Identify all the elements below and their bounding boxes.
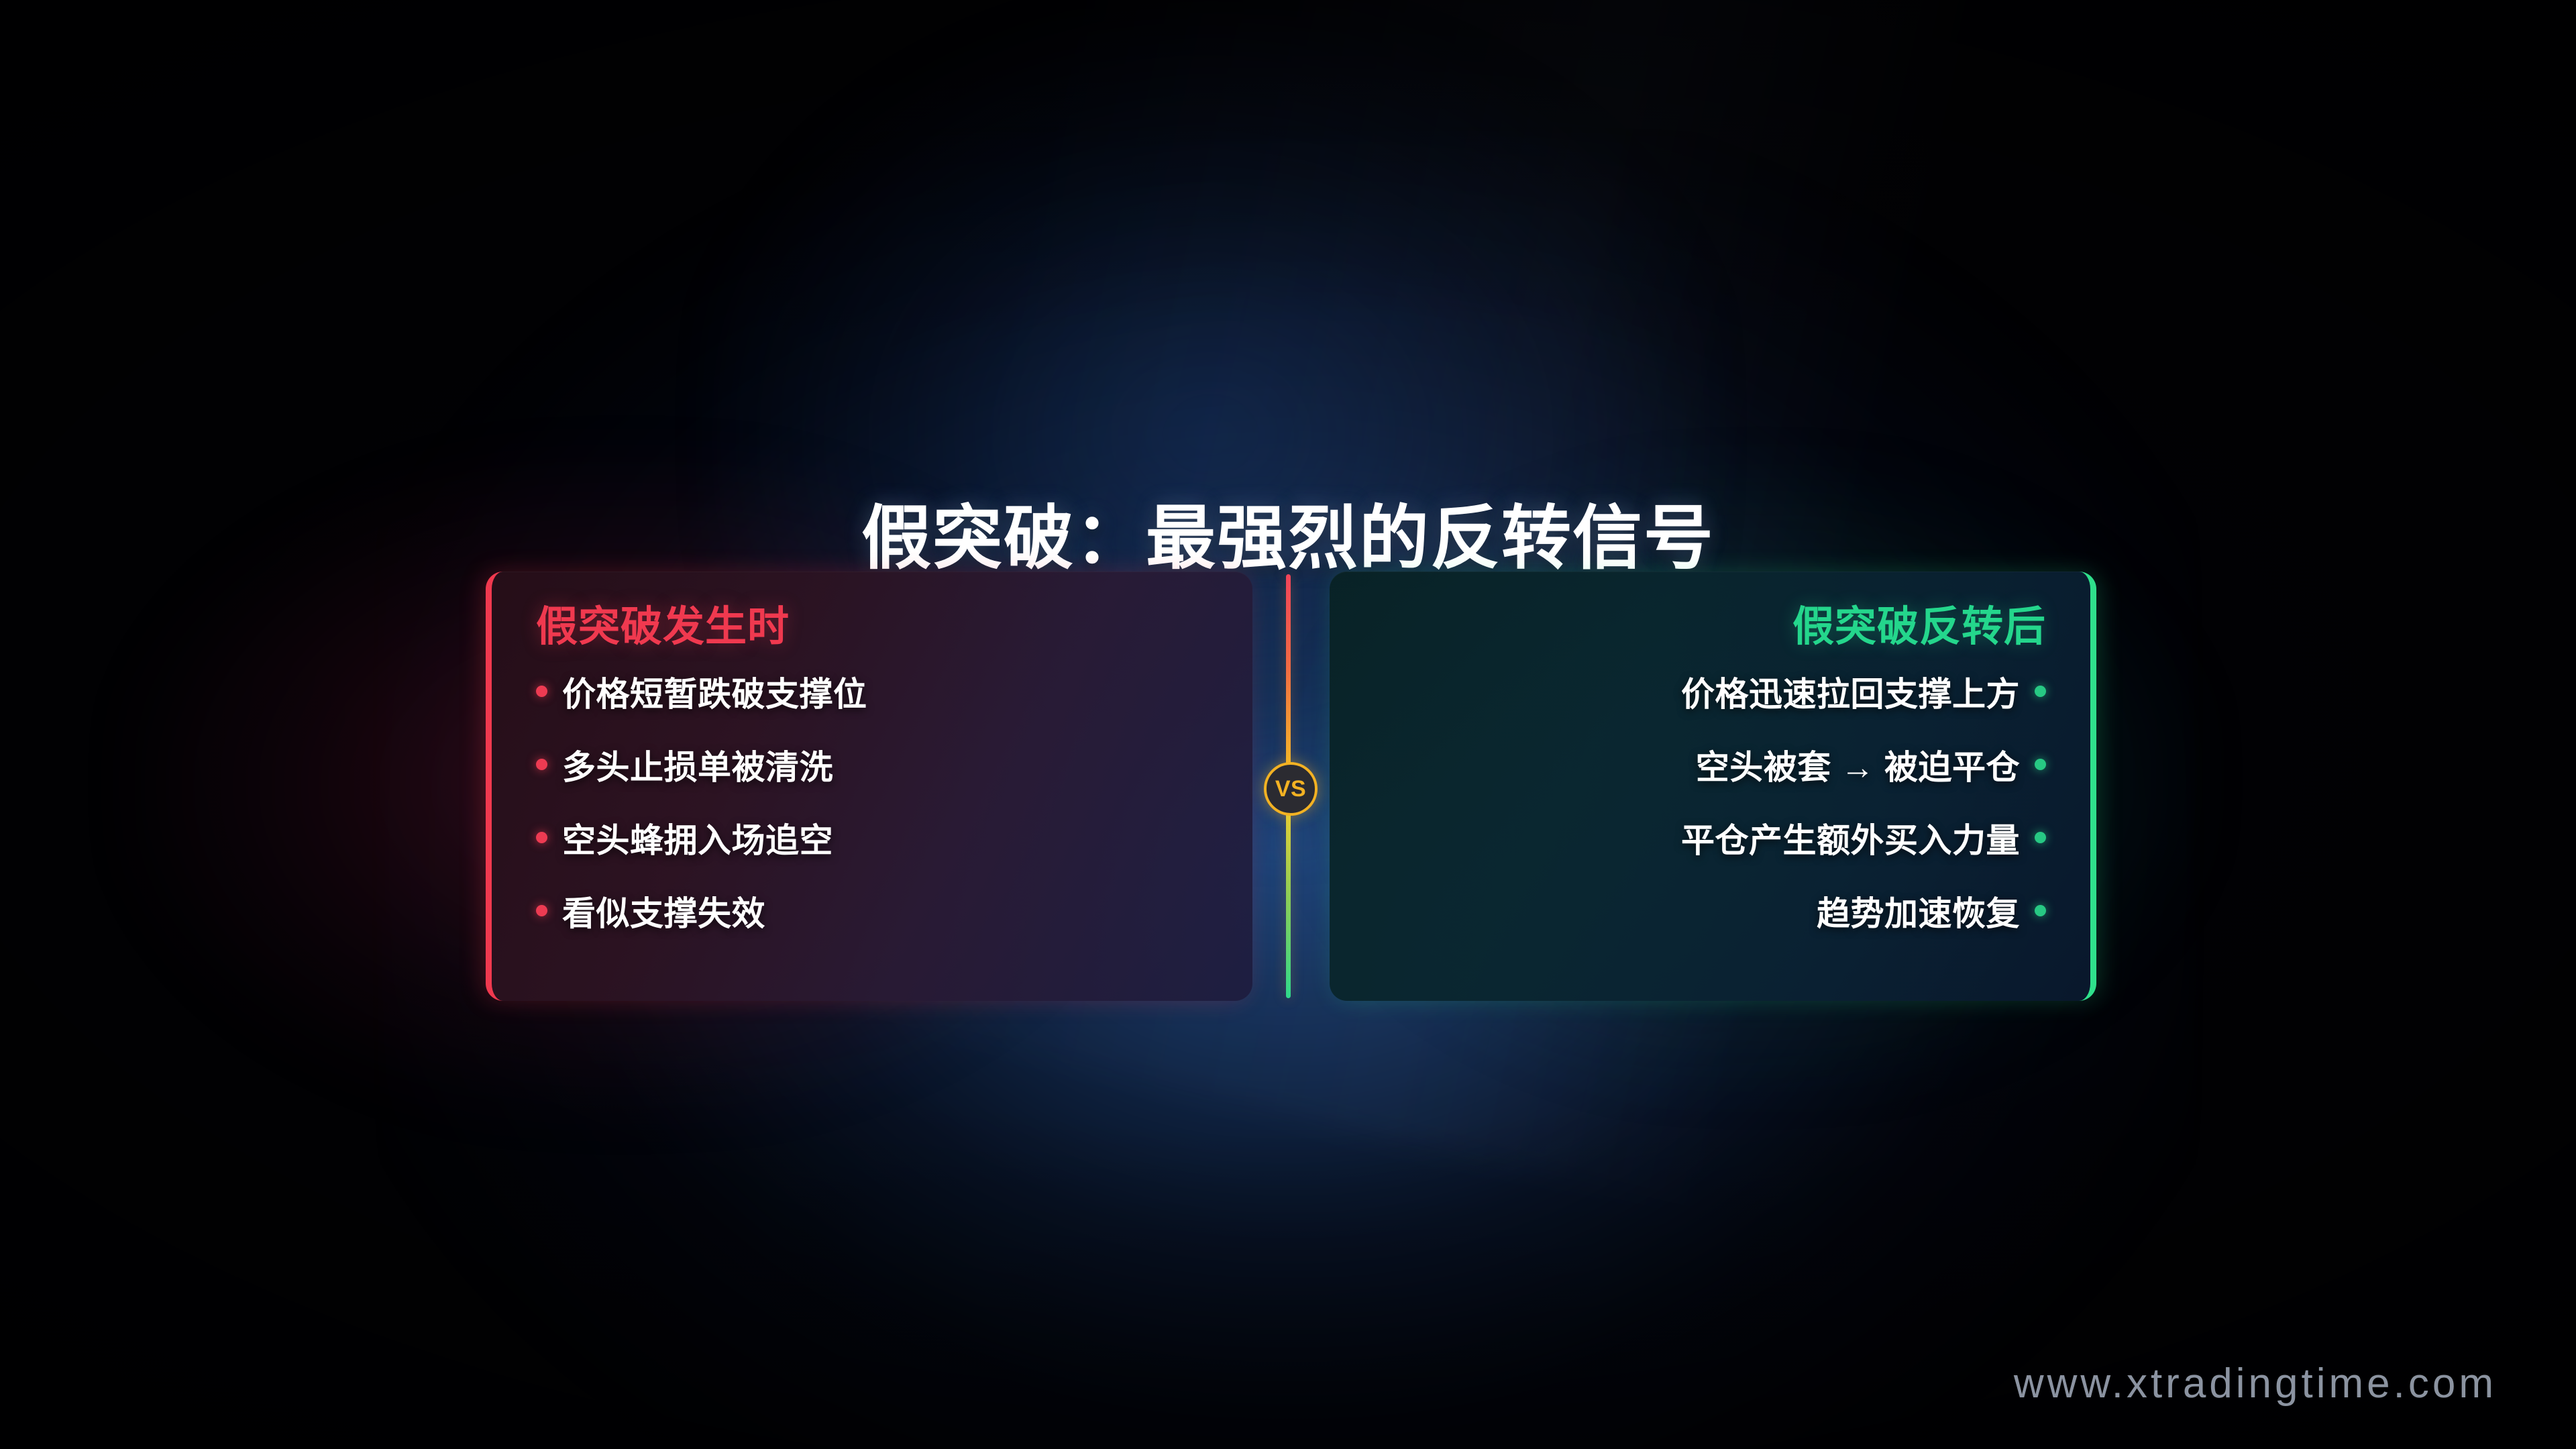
- card-right-title: 假突破反转后: [1368, 606, 2046, 648]
- list-item: 看似支撑失效: [536, 874, 1214, 947]
- card-right-bullet-list: 价格迅速拉回支撑上方 空头被套 → 被迫平仓 平仓产生额外买入力量 趋势加速恢复: [1368, 655, 2046, 947]
- card-fakeout-occurring: 假突破发生时 价格短暂跌破支撑位 多头止损单被清洗 空头蜂拥入场追空: [486, 572, 1252, 1001]
- bullet-dot-icon: [2035, 832, 2046, 843]
- vs-badge-label: VS: [1275, 777, 1306, 800]
- list-item-label: 空头被套 → 被迫平仓: [1696, 741, 2020, 789]
- card-left-title: 假突破发生时: [536, 606, 1214, 648]
- list-item-label: 多头止损单被清洗: [562, 741, 833, 789]
- bullet-dot-icon: [2035, 905, 2046, 916]
- list-item-label: 空头蜂拥入场追空: [562, 814, 833, 862]
- list-item: 平仓产生额外买入力量: [1368, 801, 2046, 874]
- list-item: 多头止损单被清洗: [536, 728, 1214, 801]
- list-item: 空头蜂拥入场追空: [536, 801, 1214, 874]
- card-right-content: 假突破反转后 价格迅速拉回支撑上方 空头被套 → 被迫平仓 平仓产生额外买入力量: [1330, 572, 2090, 1001]
- site-watermark: www.xtradingtime.com: [2014, 1360, 2497, 1407]
- card-fakeout-reversed: 假突破反转后 价格迅速拉回支撑上方 空头被套 → 被迫平仓 平仓产生额外买入力量: [1330, 572, 2096, 1001]
- bullet-dot-icon: [536, 905, 547, 916]
- list-item-label: 价格短暂跌破支撑位: [562, 667, 867, 716]
- card-left-bullet-list: 价格短暂跌破支撑位 多头止损单被清洗 空头蜂拥入场追空 看似支撑失效: [536, 655, 1214, 947]
- list-item: 趋势加速恢复: [1368, 874, 2046, 947]
- list-item: 空头被套 → 被迫平仓: [1368, 728, 2046, 801]
- vs-badge: VS: [1264, 762, 1318, 816]
- bullet-dot-icon: [2035, 759, 2046, 770]
- bullet-dot-icon: [536, 832, 547, 843]
- list-item-label: 平仓产生额外买入力量: [1681, 814, 2020, 862]
- bullet-dot-icon: [2035, 686, 2046, 697]
- list-item: 价格迅速拉回支撑上方: [1368, 655, 2046, 728]
- bullet-dot-icon: [536, 759, 547, 770]
- list-item-label: 价格迅速拉回支撑上方: [1681, 667, 2020, 716]
- page-title: 假突破：最强烈的反转信号: [0, 500, 2576, 577]
- card-left-content: 假突破发生时 价格短暂跌破支撑位 多头止损单被清洗 空头蜂拥入场追空: [492, 572, 1252, 1001]
- list-item-label: 看似支撑失效: [562, 887, 765, 935]
- list-item: 价格短暂跌破支撑位: [536, 655, 1214, 728]
- slide-canvas: 假突破：最强烈的反转信号 假突破发生时 价格短暂跌破支撑位 多头止损单被清洗: [0, 0, 2576, 1449]
- list-item-label: 趋势加速恢复: [1817, 887, 2020, 935]
- bullet-dot-icon: [536, 686, 547, 697]
